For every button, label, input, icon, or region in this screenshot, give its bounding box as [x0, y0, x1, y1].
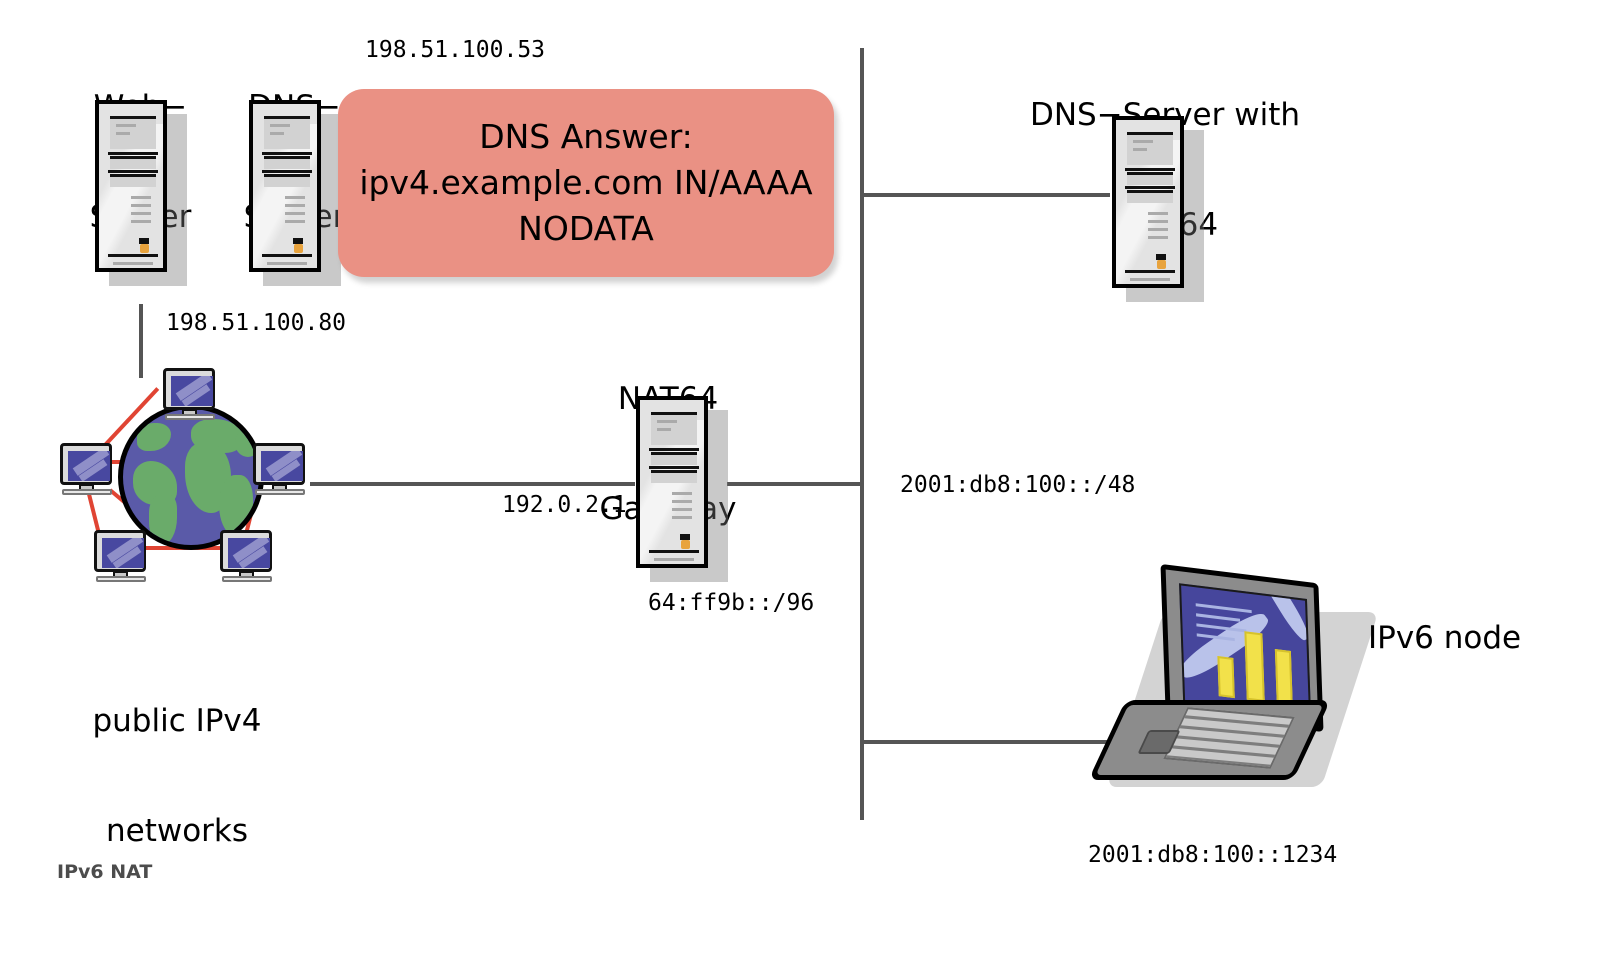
server-body	[1112, 116, 1184, 288]
server-tick	[116, 132, 130, 135]
screen-text-line	[1196, 603, 1252, 613]
monitor-keyboard	[255, 489, 305, 495]
monitor-screen	[261, 451, 303, 481]
web-server-icon	[95, 100, 175, 278]
server-tick	[1133, 148, 1147, 151]
link-web-server-to-ipv4-cloud	[139, 304, 143, 378]
server-bar	[108, 170, 158, 173]
server-tick	[131, 220, 151, 223]
server-bar	[262, 254, 312, 257]
globe-landmass	[137, 423, 171, 451]
ipv4-cloud-label-line2: networks	[52, 813, 302, 850]
server-bar	[1125, 270, 1175, 273]
server-tick	[1148, 220, 1168, 223]
server-tick	[267, 262, 307, 265]
server-tick	[672, 500, 692, 503]
web-server-address: 198.51.100.80	[166, 310, 346, 337]
dns-answer-line2: ipv4.example.com IN/AAAA	[359, 160, 812, 206]
monitor-keyboard	[165, 414, 215, 420]
server-tick	[672, 508, 692, 511]
server-bay	[1127, 172, 1173, 185]
server-tick	[657, 420, 677, 423]
server-body	[636, 396, 708, 568]
server-bay	[651, 452, 697, 465]
dns-answer-line1: DNS Answer:	[479, 114, 693, 160]
server-tick	[1148, 236, 1168, 239]
screen-chart-bar	[1244, 631, 1264, 702]
monitor-screen	[68, 451, 110, 481]
monitor-case	[163, 368, 215, 410]
monitor-screen	[228, 538, 270, 568]
server-tick	[654, 558, 694, 561]
server-tick	[285, 220, 305, 223]
server-bar	[649, 466, 699, 469]
ipv6-bus-line	[860, 48, 864, 820]
server-tick	[285, 196, 305, 199]
server-bay	[1127, 190, 1173, 203]
monitor-keyboard	[62, 489, 112, 495]
dns-server-icon	[249, 100, 329, 278]
server-tick	[1130, 278, 1170, 281]
monitor-case	[60, 443, 112, 485]
server-tick	[113, 262, 153, 265]
server-tick	[131, 196, 151, 199]
monitor-screen	[171, 376, 213, 406]
nat64-gateway-icon	[636, 396, 716, 574]
nat64-prefix-label: 64:ff9b::/96	[648, 590, 814, 617]
ipv6-node-label: IPv6 node	[1368, 620, 1568, 657]
server-body	[249, 100, 321, 272]
server-bay	[110, 174, 156, 187]
nat64-ipv4-address: 192.0.2.1	[502, 492, 627, 519]
server-bay	[264, 156, 310, 169]
globe-icon	[118, 404, 264, 550]
server-tick	[270, 132, 284, 135]
screen-chart-bar	[1217, 656, 1234, 698]
server-led	[681, 540, 690, 549]
server-bar	[649, 448, 699, 451]
server-bar	[262, 152, 312, 155]
server-bar	[108, 152, 158, 155]
ipv6-node-address: 2001:db8:100::1234	[1088, 842, 1337, 869]
server-tick	[1148, 212, 1168, 215]
ipv6-node-laptop-icon	[1095, 572, 1345, 797]
laptop-screen	[1179, 583, 1311, 717]
server-bay	[110, 156, 156, 169]
network-host-icon	[220, 530, 276, 580]
server-led	[140, 244, 149, 253]
server-led	[294, 244, 303, 253]
network-host-icon	[163, 368, 219, 418]
ipv4-cloud-label-line1: public IPv4	[52, 703, 302, 740]
server-bay	[651, 470, 697, 483]
server-bay	[264, 174, 310, 187]
server-bar	[649, 550, 699, 553]
network-host-icon	[60, 443, 116, 493]
ipv4-cloud-icon	[50, 368, 304, 583]
diagram-canvas: Web− Server DNS− Server 198.51.100.53	[0, 0, 1604, 959]
server-bar	[1125, 168, 1175, 171]
dns-server-address: 198.51.100.53	[365, 37, 545, 64]
server-tick	[285, 204, 305, 207]
server-body	[95, 100, 167, 272]
server-tick	[131, 204, 151, 207]
link-bus-to-ipv6-node	[862, 740, 1109, 744]
monitor-keyboard	[96, 576, 146, 582]
network-host-icon	[94, 530, 150, 580]
globe-landmass	[149, 495, 177, 545]
dns-answer-callout: DNS Answer: ipv4.example.com IN/AAAA NOD…	[338, 89, 834, 277]
screen-text-line	[1196, 613, 1240, 621]
monitor-case	[94, 530, 146, 572]
network-host-icon	[253, 443, 309, 493]
server-tick	[1133, 140, 1153, 143]
dns-answer-line3: NODATA	[518, 206, 654, 252]
server-led	[1157, 260, 1166, 269]
server-tick	[270, 124, 290, 127]
dns64-server-icon	[1112, 116, 1192, 294]
monitor-keyboard	[222, 576, 272, 582]
server-bar	[108, 254, 158, 257]
footer-caption: IPv6 NAT	[57, 861, 152, 883]
server-bar	[262, 170, 312, 173]
ipv6-link-prefix-label: 2001:db8:100::/48	[900, 472, 1135, 499]
monitor-screen	[102, 538, 144, 568]
server-tick	[672, 492, 692, 495]
server-tick	[657, 428, 671, 431]
server-tick	[131, 212, 151, 215]
monitor-case	[220, 530, 272, 572]
globe-landmass	[219, 475, 253, 537]
server-tick	[116, 124, 136, 127]
server-tick	[1148, 228, 1168, 231]
server-bar	[1125, 186, 1175, 189]
server-tick	[672, 516, 692, 519]
monitor-case	[253, 443, 305, 485]
server-tick	[285, 212, 305, 215]
